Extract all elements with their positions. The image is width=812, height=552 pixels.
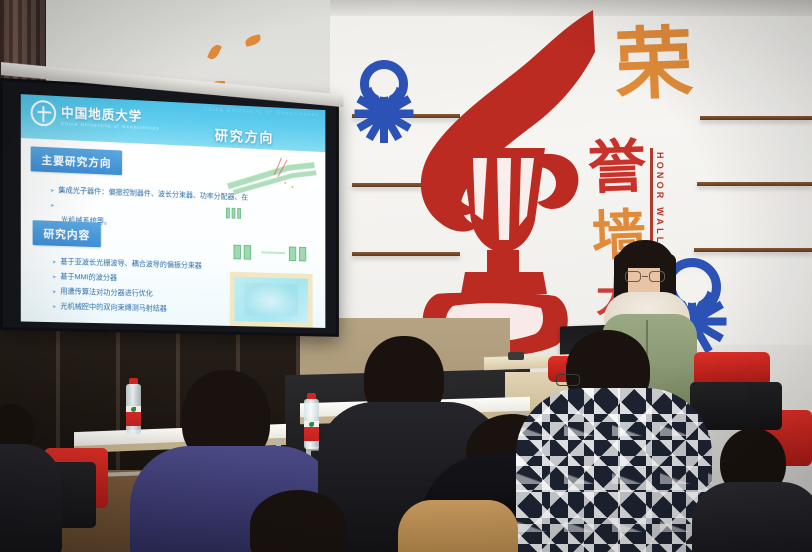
- presentation-slide: 中国地质大学 China University of Geosciences C…: [21, 94, 326, 328]
- waveguide-cross-section-c: [289, 246, 306, 261]
- university-emblem-icon: [31, 100, 57, 127]
- water-bottle[interactable]: [304, 393, 319, 449]
- audience-head: [250, 490, 346, 552]
- display-shelf: [697, 182, 812, 186]
- waveguide-cross-section-b: [234, 245, 252, 260]
- university-name-en-right: China University of Geosciences: [204, 107, 320, 119]
- university-logo: 中国地质大学 China University of Geosciences: [31, 100, 160, 132]
- honor-char-yu: 誉: [587, 137, 647, 197]
- bullet-list-research-content: 基于亚波长光栅波导、耦合波导的偏振分束器 基于MMI的波分器 用遭传算法对功分器…: [52, 255, 243, 319]
- audience-torso: [0, 444, 62, 552]
- slide-body: 主要研究方向 集成光子器件：偏振控制器件、波长分束器、功率分配器、在 光机械系统…: [21, 138, 326, 328]
- audience-tan-jacket: [398, 500, 518, 552]
- water-bottle[interactable]: [126, 378, 141, 434]
- seminar-room-photo: 荣 誉 墙 大 HONOR WALL: [0, 0, 812, 552]
- waveguide-cross-section-a: [226, 208, 241, 219]
- podium-microphone-icon: [508, 352, 524, 360]
- projection-screen: 中国地质大学 China University of Geosciences C…: [0, 78, 339, 337]
- audience-torso: [516, 388, 712, 552]
- display-shelf: [694, 248, 812, 252]
- waveguide-schematic-figure: [224, 151, 318, 207]
- audience-torso: [692, 482, 812, 552]
- presenter-glasses-icon: [624, 271, 666, 282]
- section-tag-research-content: 研究内容: [33, 220, 101, 247]
- bottle-label: [304, 421, 319, 441]
- display-shelf: [700, 116, 812, 120]
- honor-char-rong: 荣: [614, 25, 695, 106]
- simulation-result-figure: [230, 272, 313, 328]
- waveguide-connector: [261, 251, 285, 254]
- bottle-label: [126, 406, 141, 426]
- audience-glasses-icon: [556, 374, 580, 386]
- slide-title: 研究方向: [215, 126, 274, 148]
- section-tag-main-direction: 主要研究方向: [31, 146, 122, 175]
- trophy-mural-icon: [395, 8, 595, 368]
- audience-chair[interactable]: [694, 352, 770, 386]
